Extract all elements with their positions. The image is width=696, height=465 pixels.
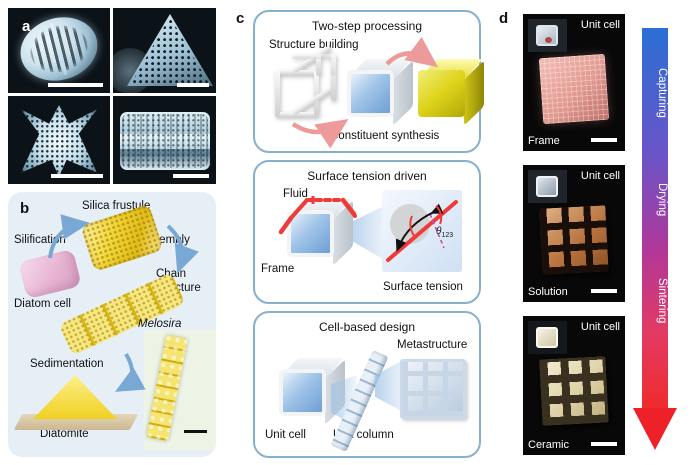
panel-letter-d: d	[499, 10, 508, 27]
diatom-cell-icon	[18, 249, 82, 299]
wireframe-cube-icon	[275, 70, 329, 124]
surface-tension-inset: θ123	[382, 190, 462, 272]
arrow-sedimentation	[122, 354, 132, 388]
unit-cell-inset-solution	[528, 170, 567, 203]
label-unit-cell: Unit cell	[265, 429, 306, 441]
panel-c-box-surface-tension-driven: Surface tension driven Fluid Frame Surfa…	[253, 160, 481, 304]
scale-bar	[173, 174, 209, 178]
panel-c-box-cell-based-design: Cell-based design Unit cell Unit column …	[253, 311, 481, 458]
photo-frame-stage: Unit cell Frame	[523, 14, 625, 151]
figure-root: a b Silica frustule Silification Assembl…	[0, 0, 696, 465]
scale-bar	[591, 289, 617, 293]
label-state-ceramic: Ceramic	[528, 439, 569, 451]
label-melosira: Melosira	[138, 318, 181, 330]
scale-bar	[177, 83, 209, 87]
diatomite-mound-icon	[33, 375, 117, 419]
label-state-frame: Frame	[528, 135, 560, 147]
label-silification: Silification	[14, 234, 66, 246]
girdle-band	[120, 134, 210, 149]
unit-cell-inset-frame	[528, 19, 567, 52]
label-frame: Frame	[261, 263, 294, 275]
arrow-assembly	[168, 226, 182, 266]
frame-lattice-photo	[539, 54, 609, 124]
scale-bar	[51, 174, 103, 178]
silica-frustule-icon	[80, 204, 163, 272]
process-step-drying: Drying	[642, 183, 668, 216]
panel-a: a	[8, 8, 216, 184]
label-structure-building: Structure building	[269, 39, 359, 51]
process-step-capturing: Capturing	[642, 68, 668, 118]
sem-image-stellate-diatom	[8, 96, 110, 184]
stellate-diatom-icon	[21, 105, 97, 177]
label-unit-cell-ceramic: Unit cell	[581, 321, 620, 333]
unit-cell-icon	[536, 25, 558, 46]
label-surface-tension: Surface tension	[383, 281, 463, 293]
unit-cell-inset-ceramic	[528, 321, 567, 354]
label-constituent-synthesis: Constituent synthesis	[330, 130, 439, 142]
fluid-filled-cube-icon	[347, 70, 401, 124]
theta-angle-label: θ123	[436, 226, 453, 239]
sem-image-cylindrical-diatom	[113, 96, 216, 184]
label-state-solution: Solution	[528, 286, 568, 298]
panel-letter-c: c	[236, 10, 244, 27]
panel-c-box-two-step-processing: Two-step processing Structure building C…	[253, 10, 481, 153]
scale-bar	[591, 442, 617, 446]
process-arrow: Capturing Drying Sintering	[642, 28, 668, 450]
scale-bar	[591, 138, 617, 142]
title-surface-tension-driven: Surface tension driven	[255, 169, 479, 183]
label-fluid: Fluid	[283, 188, 308, 200]
cylindrical-diatom-icon	[120, 112, 210, 170]
unit-cell-icon	[536, 327, 558, 348]
panel-letter-b: b	[20, 200, 29, 217]
label-diatom-cell: Diatom cell	[14, 298, 71, 310]
sem-image-triangular-diatom	[113, 8, 216, 93]
ceramic-lattice-photo	[539, 356, 608, 425]
unit-cell-cube-icon	[279, 369, 333, 423]
title-cell-based-design: Cell-based design	[255, 320, 479, 334]
metastructure-icon	[400, 359, 466, 419]
process-arrow-head	[633, 408, 677, 450]
label-sedimentation: Sedimentation	[30, 358, 104, 370]
label-unit-cell-frame: Unit cell	[581, 19, 620, 31]
photo-ceramic-stage: Unit cell Ceramic	[523, 316, 625, 455]
panel-d: d Unit cell Frame Unit cell Solution	[487, 0, 696, 465]
constituent-cube-icon	[418, 70, 472, 124]
panel-letter-a: a	[22, 18, 30, 35]
scale-bar	[48, 83, 103, 87]
label-unit-cell-solution: Unit cell	[581, 170, 620, 182]
title-two-step-processing: Two-step processing	[255, 19, 479, 33]
solution-lattice-photo	[539, 205, 608, 274]
photo-solution-stage: Unit cell Solution	[523, 165, 625, 302]
panel-b: b Silica frustule Silification Assembly …	[8, 192, 216, 457]
unit-cell-icon	[536, 176, 558, 197]
process-step-sintering: Sintering	[642, 278, 668, 323]
label-metastructure: Metastructure	[397, 339, 467, 351]
melosira-scale-bar	[184, 430, 207, 433]
fluid-frame-cube-icon	[287, 210, 341, 264]
